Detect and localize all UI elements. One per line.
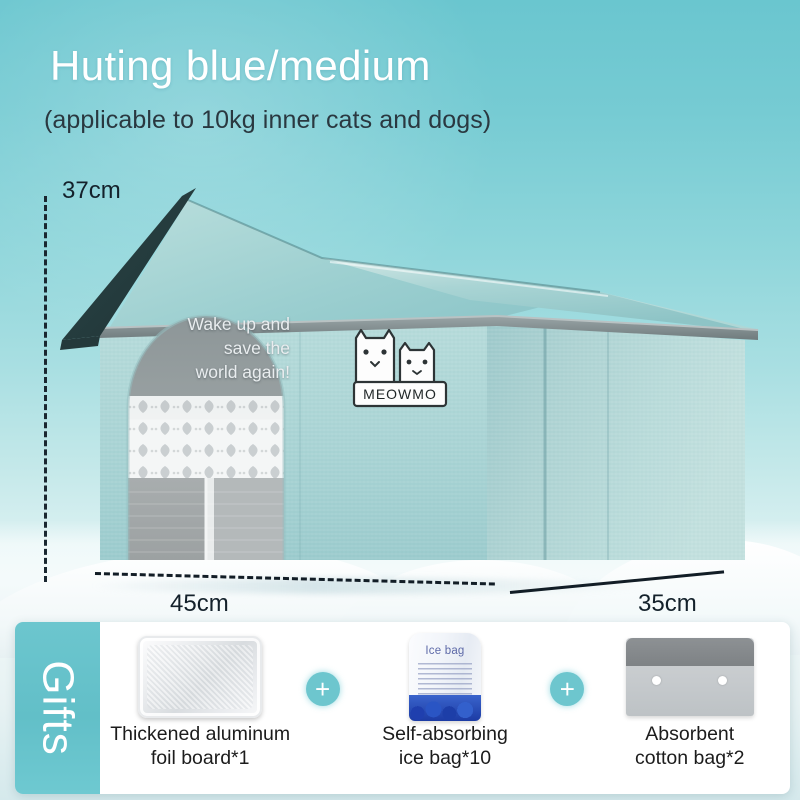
aluminum-foil-board-icon bbox=[138, 634, 262, 720]
side-depth-dimension-label: 35cm bbox=[638, 590, 697, 618]
meowmo-badge-text: MEOWMO bbox=[363, 386, 437, 402]
gift-caption-line2: ice bag*10 bbox=[382, 747, 508, 771]
gift-caption-line2: cotton bag*2 bbox=[635, 747, 745, 771]
gifts-tab-label: Gifts bbox=[33, 660, 83, 755]
gift-caption-line1: Thickened aluminum bbox=[110, 723, 290, 747]
gift-caption-line2: foil board*1 bbox=[110, 747, 290, 771]
gift-caption: Thickened aluminum foil board*1 bbox=[110, 723, 290, 771]
gift-caption-line1: Self-absorbing bbox=[382, 723, 508, 747]
gift-caption: Absorbent cotton bag*2 bbox=[635, 723, 745, 771]
gifts-item-list: Thickened aluminum foil board*1 + Ice ba… bbox=[100, 622, 790, 794]
gift-item-ice-bag: Ice bag Self-absorbing ice bag*10 bbox=[350, 628, 540, 788]
ice-bag-print-lines bbox=[418, 663, 472, 695]
product-scene: Huting blue/medium (applicable to 10kg i… bbox=[0, 0, 800, 800]
gift-item-foil-board: Thickened aluminum foil board*1 bbox=[105, 628, 295, 788]
gift-caption-line1: Absorbent bbox=[635, 723, 745, 747]
plus-icon-2: + bbox=[550, 672, 584, 706]
height-guide-line bbox=[44, 196, 47, 582]
gifts-panel: Gifts Thickened aluminum foil board*1 + … bbox=[15, 622, 790, 794]
gifts-tab: Gifts bbox=[15, 622, 100, 794]
gift-item-cotton-bag: Absorbent cotton bag*2 bbox=[595, 628, 785, 788]
absorbent-cotton-bag-icon bbox=[626, 634, 754, 720]
ice-bag-icon: Ice bag bbox=[409, 634, 481, 720]
ice-cubes-graphic bbox=[409, 695, 481, 721]
height-dimension-label: 37cm bbox=[62, 177, 121, 205]
plus-icon-1: + bbox=[306, 672, 340, 706]
gift-caption: Self-absorbing ice bag*10 bbox=[382, 723, 508, 771]
front-width-dimension-label: 45cm bbox=[170, 590, 229, 618]
ice-bag-pack-label: Ice bag bbox=[409, 645, 481, 657]
